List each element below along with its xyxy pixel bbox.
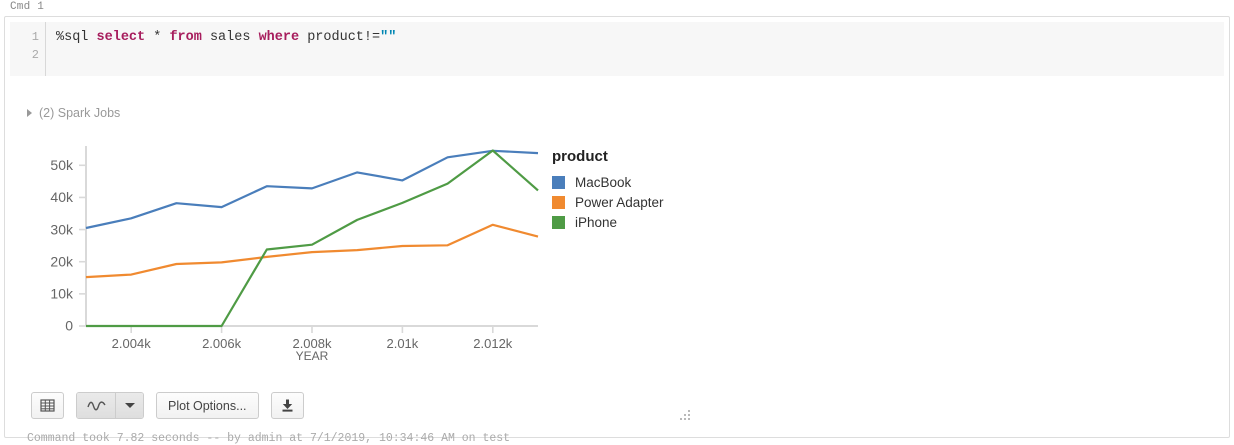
spark-jobs-label: (2) Spark Jobs: [39, 106, 120, 120]
legend-label: iPhone: [575, 215, 617, 230]
notebook-cell: 1 2 %sql select * from sales where produ…: [4, 16, 1230, 438]
legend-title: product: [552, 148, 608, 165]
command-status-text: Command took 7.82 seconds -- by admin at…: [27, 432, 510, 445]
table-view-button[interactable]: [31, 392, 64, 419]
legend-swatch: [552, 176, 565, 189]
legend-swatch: [552, 196, 565, 209]
editor-gutter: 1 2: [10, 22, 46, 76]
x-axis-tick-label: 2.006k: [202, 336, 242, 351]
download-button[interactable]: [271, 392, 304, 419]
result-toolbar: Plot Options...: [31, 392, 304, 419]
code-token: where: [259, 30, 300, 45]
cell-command-label: Cmd 1: [10, 1, 44, 13]
download-icon: [280, 398, 295, 413]
line-number: 2: [32, 48, 39, 62]
legend-label: Power Adapter: [575, 195, 664, 210]
spark-jobs-toggle[interactable]: (2) Spark Jobs: [27, 106, 120, 120]
line-chart-icon: [87, 400, 106, 412]
x-axis-tick-label: 2.01k: [386, 336, 418, 351]
legend-swatch: [552, 216, 565, 229]
y-axis-tick-label: 0: [65, 318, 73, 334]
line-number: 1: [32, 30, 39, 44]
code-token: %sql: [56, 30, 97, 45]
chart-area: 010k20k30k40k50k 2.004k2.006k2.008k2.01k…: [5, 129, 745, 377]
y-axis-tick-label: 10k: [50, 286, 74, 302]
caret-down-icon: [125, 403, 135, 408]
y-axis-tick-label: 50k: [50, 157, 74, 173]
chart-series-group: [86, 151, 538, 327]
chart-type-button-group[interactable]: [76, 392, 144, 419]
resize-grip-icon[interactable]: [677, 409, 691, 423]
legend-item-iphone[interactable]: iPhone: [552, 215, 617, 230]
legend-item-macbook[interactable]: MacBook: [552, 175, 631, 190]
triangle-right-icon[interactable]: [27, 109, 32, 117]
code-token: "": [380, 30, 396, 45]
x-axis-tick-label: 2.012k: [473, 336, 513, 351]
chart-line-power-adapter: [86, 225, 538, 277]
x-axis-ticks: 2.004k2.006k2.008k2.01k2.012k: [112, 326, 513, 351]
code-token: from: [169, 30, 201, 45]
chart-line-macbook: [86, 151, 538, 228]
chart-type-dropdown-button[interactable]: [116, 393, 143, 418]
legend-label: MacBook: [575, 175, 631, 190]
code-token: sales: [202, 30, 259, 45]
code-text[interactable]: %sql select * from sales where product!=…: [56, 29, 396, 47]
code-editor[interactable]: 1 2 %sql select * from sales where produ…: [10, 22, 1224, 76]
y-axis-ticks: 010k20k30k40k50k: [50, 157, 86, 334]
y-axis-tick-label: 40k: [50, 189, 74, 205]
chart-line-iphone: [86, 151, 538, 327]
x-axis-title: YEAR: [296, 349, 329, 363]
chart-view-button[interactable]: [77, 393, 116, 418]
table-grid-icon: [40, 398, 55, 413]
y-axis-tick-label: 30k: [50, 221, 74, 237]
line-chart: 010k20k30k40k50k 2.004k2.006k2.008k2.01k…: [5, 129, 745, 377]
legend-item-power-adapter[interactable]: Power Adapter: [552, 195, 664, 210]
plot-options-button[interactable]: Plot Options...: [156, 392, 259, 419]
code-token: product!=: [299, 30, 380, 45]
code-token: select: [97, 30, 146, 45]
x-axis-tick-label: 2.004k: [112, 336, 152, 351]
y-axis-tick-label: 20k: [50, 253, 74, 269]
